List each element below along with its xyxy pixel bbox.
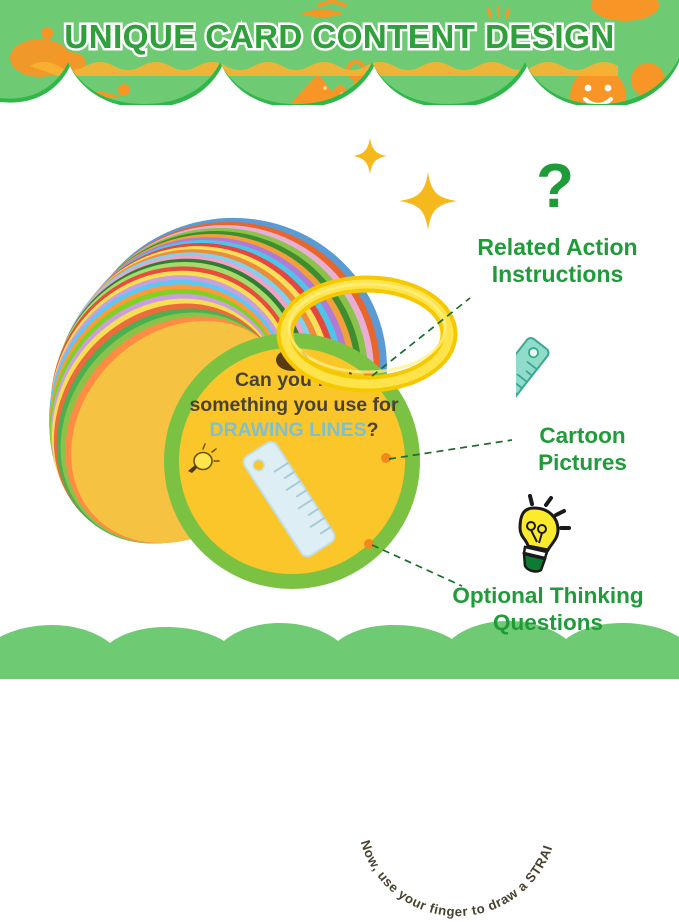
question-mark-icon: ?	[535, 158, 575, 220]
card-arc-text-svg: Now, use your finger to draw a STRAIGHT …	[326, 664, 584, 922]
sparkle-decorations	[340, 130, 470, 250]
anchor-dot-3	[364, 539, 374, 549]
page-title: UNIQUE CARD CONTENT DESIGN	[0, 18, 679, 56]
header-banner: UNIQUE CARD CONTENT DESIGN UNIQUE CARD C…	[0, 0, 679, 105]
anchor-dot-2	[381, 453, 391, 463]
sparkle-icon-large	[399, 172, 457, 230]
infographic-stage: UNIQUE CARD CONTENT DESIGN UNIQUE CARD C…	[0, 0, 679, 679]
callout-3-line-1: Optional Thinking	[452, 583, 643, 608]
callout-optional-thinking-questions: Optional Thinking Questions	[423, 583, 673, 636]
card-arc-text: Now, use your finger to draw a STRAIGHT …	[326, 664, 555, 919]
orange-dot	[118, 84, 130, 96]
card-question-mark: ?	[367, 419, 379, 441]
lightbulb-icon	[498, 494, 588, 582]
mountain-speck	[323, 86, 327, 90]
callout-1-line-2: Instructions	[492, 261, 624, 287]
callout-3-line-2: Questions	[493, 610, 603, 635]
binder-ring[interactable]	[272, 272, 462, 402]
sparkle-icon-small	[353, 138, 387, 174]
callout-2-line-1: Cartoon	[539, 423, 625, 448]
ruler-icon	[516, 330, 626, 420]
callout-cartoon-pictures: Cartoon Pictures	[500, 423, 665, 476]
callout-2-line-2: Pictures	[538, 450, 627, 475]
callout-related-action-instructions: Related Action Instructions	[455, 234, 660, 288]
card-question-highlight: DRAWING LINES	[209, 419, 366, 441]
callout-1-line-1: Related Action	[477, 234, 637, 260]
